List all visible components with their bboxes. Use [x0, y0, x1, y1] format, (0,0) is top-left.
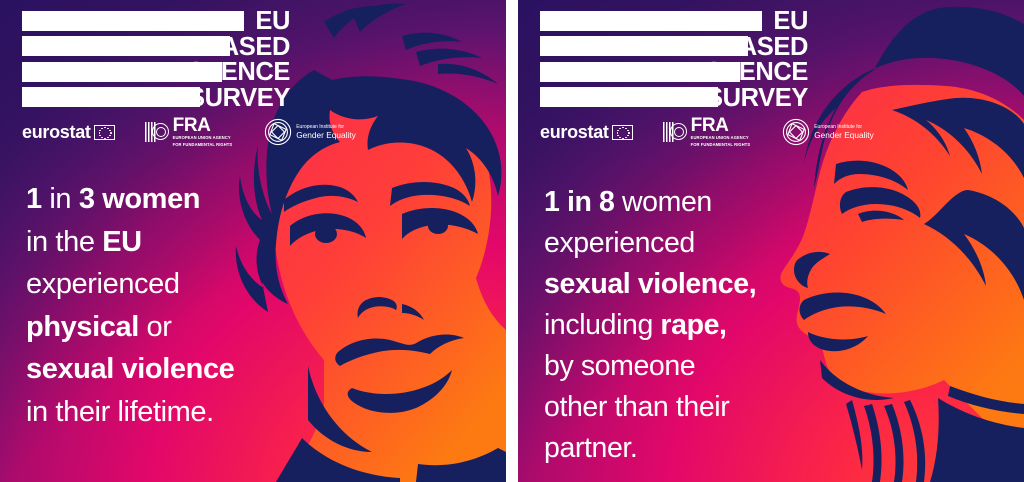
panel-left-header: EU GENDER-BASED VIOLENCE SURVEY eurostat [0, 0, 506, 113]
organisation-logos-row: eurostat FRA [22, 118, 356, 146]
fra-logo: FRA EUROPEAN UNION AGENCY FOR FUNDAMENTA… [663, 117, 751, 147]
statement-emphasis: sexual violence, [544, 268, 756, 300]
fra-subtitle-line-2: FOR FUNDAMENTAL RIGHTS [173, 142, 233, 147]
panel-right-header: EU GENDER-BASED VIOLENCE SURVEY eurostat [518, 0, 1024, 113]
wordmark-line-2: GENDER-BASED [540, 35, 808, 61]
statement-line-6: other than their [544, 387, 844, 428]
statement-text: by someone [544, 350, 695, 382]
eurostat-logo-label: eurostat [540, 123, 609, 141]
panel-divider [506, 0, 518, 482]
statement-line-2: in the EU [26, 221, 326, 264]
statement-line-5: sexual violence [26, 348, 326, 391]
statement-text: experienced [26, 268, 180, 300]
eu-gbv-survey-infographic-pair: EU GENDER-BASED VIOLENCE SURVEY eurostat [0, 0, 1024, 482]
statement-emphasis: physical [26, 311, 139, 343]
statement-text: in their lifetime. [26, 396, 214, 428]
eu-flag-icon [612, 125, 633, 140]
statement-line-6: in their lifetime. [26, 391, 326, 434]
eige-label-line-2: Gender Equality [814, 130, 874, 140]
wordmark-line-1: EU [22, 8, 290, 35]
eurostat-logo: eurostat [540, 123, 633, 141]
eurostat-logo: eurostat [22, 123, 115, 141]
wordmark-line-3: VIOLENCE [540, 60, 808, 86]
statement-line-4: physical or [26, 306, 326, 349]
fra-abbr-label: FRA [173, 117, 233, 134]
statement-text: women [614, 186, 711, 218]
wordmark-line-1: EU [540, 8, 808, 35]
statement-text: experienced [544, 227, 695, 259]
fra-logo: FRA EUROPEAN UNION AGENCY FOR FUNDAMENTA… [145, 117, 233, 147]
wordmark-line-2: GENDER-BASED [22, 35, 290, 61]
wordmark-line-4: SURVEY [22, 86, 290, 112]
fra-subtitle-line-2: FOR FUNDAMENTAL RIGHTS [691, 142, 751, 147]
statement-line-7: partner. [544, 428, 844, 469]
eurostat-logo-label: eurostat [22, 123, 91, 141]
wordmark-text: EU GENDER-BASED VIOLENCE SURVEY [22, 8, 290, 111]
statement-line-3: sexual violence, [544, 264, 844, 305]
panel-left-statement: 1 in 3 womenin the EUexperiencedphysical… [26, 178, 326, 433]
statement-line-1: 1 in 3 women [26, 178, 326, 221]
statement-line-5: by someone [544, 346, 844, 387]
wordmark-text: EU GENDER-BASED VIOLENCE SURVEY [540, 8, 808, 111]
statement-text: including [544, 309, 660, 341]
statement-text: or [139, 311, 172, 343]
statement-emphasis: rape, [660, 309, 726, 341]
eu-gbv-survey-wordmark: EU GENDER-BASED VIOLENCE SURVEY [540, 11, 810, 113]
eige-logo: European Institute for Gender Equality [264, 118, 356, 146]
organisation-logos-row: eurostat FRA [540, 118, 874, 146]
statement-emphasis: EU [102, 226, 142, 258]
wordmark-line-4: SURVEY [540, 86, 808, 112]
statement-emphasis: sexual violence [26, 353, 234, 385]
eige-emblem-icon [264, 118, 292, 146]
panel-left: EU GENDER-BASED VIOLENCE SURVEY eurostat [0, 0, 506, 482]
fra-subtitle-line-1: EUROPEAN UNION AGENCY [173, 135, 233, 140]
eu-gbv-survey-wordmark: EU GENDER-BASED VIOLENCE SURVEY [22, 11, 292, 113]
fra-abbr-label: FRA [691, 117, 751, 134]
statement-line-2: experienced [544, 223, 844, 264]
fra-emblem-icon [663, 121, 689, 143]
statement-emphasis: 1 [26, 183, 42, 215]
statement-emphasis: 3 women [79, 183, 200, 215]
statement-emphasis: 1 in 8 [544, 186, 614, 218]
eige-label-line-2: Gender Equality [296, 130, 356, 140]
fra-subtitle-line-1: EUROPEAN UNION AGENCY [691, 135, 751, 140]
statement-line-3: experienced [26, 263, 326, 306]
eu-flag-icon [94, 125, 115, 140]
eige-logo: European Institute for Gender Equality [782, 118, 874, 146]
panel-right-statement: 1 in 8 womenexperiencedsexual violence,i… [544, 182, 844, 469]
panel-right: EU GENDER-BASED VIOLENCE SURVEY eurostat [518, 0, 1024, 482]
eige-emblem-icon [782, 118, 810, 146]
wordmark-line-3: VIOLENCE [22, 60, 290, 86]
statement-text: in the [26, 226, 102, 258]
fra-emblem-icon [145, 121, 171, 143]
statement-line-4: including rape, [544, 305, 844, 346]
statement-text: other than their [544, 391, 729, 423]
statement-text: in [42, 183, 79, 215]
statement-text: partner. [544, 432, 637, 464]
statement-line-1: 1 in 8 women [544, 182, 844, 223]
